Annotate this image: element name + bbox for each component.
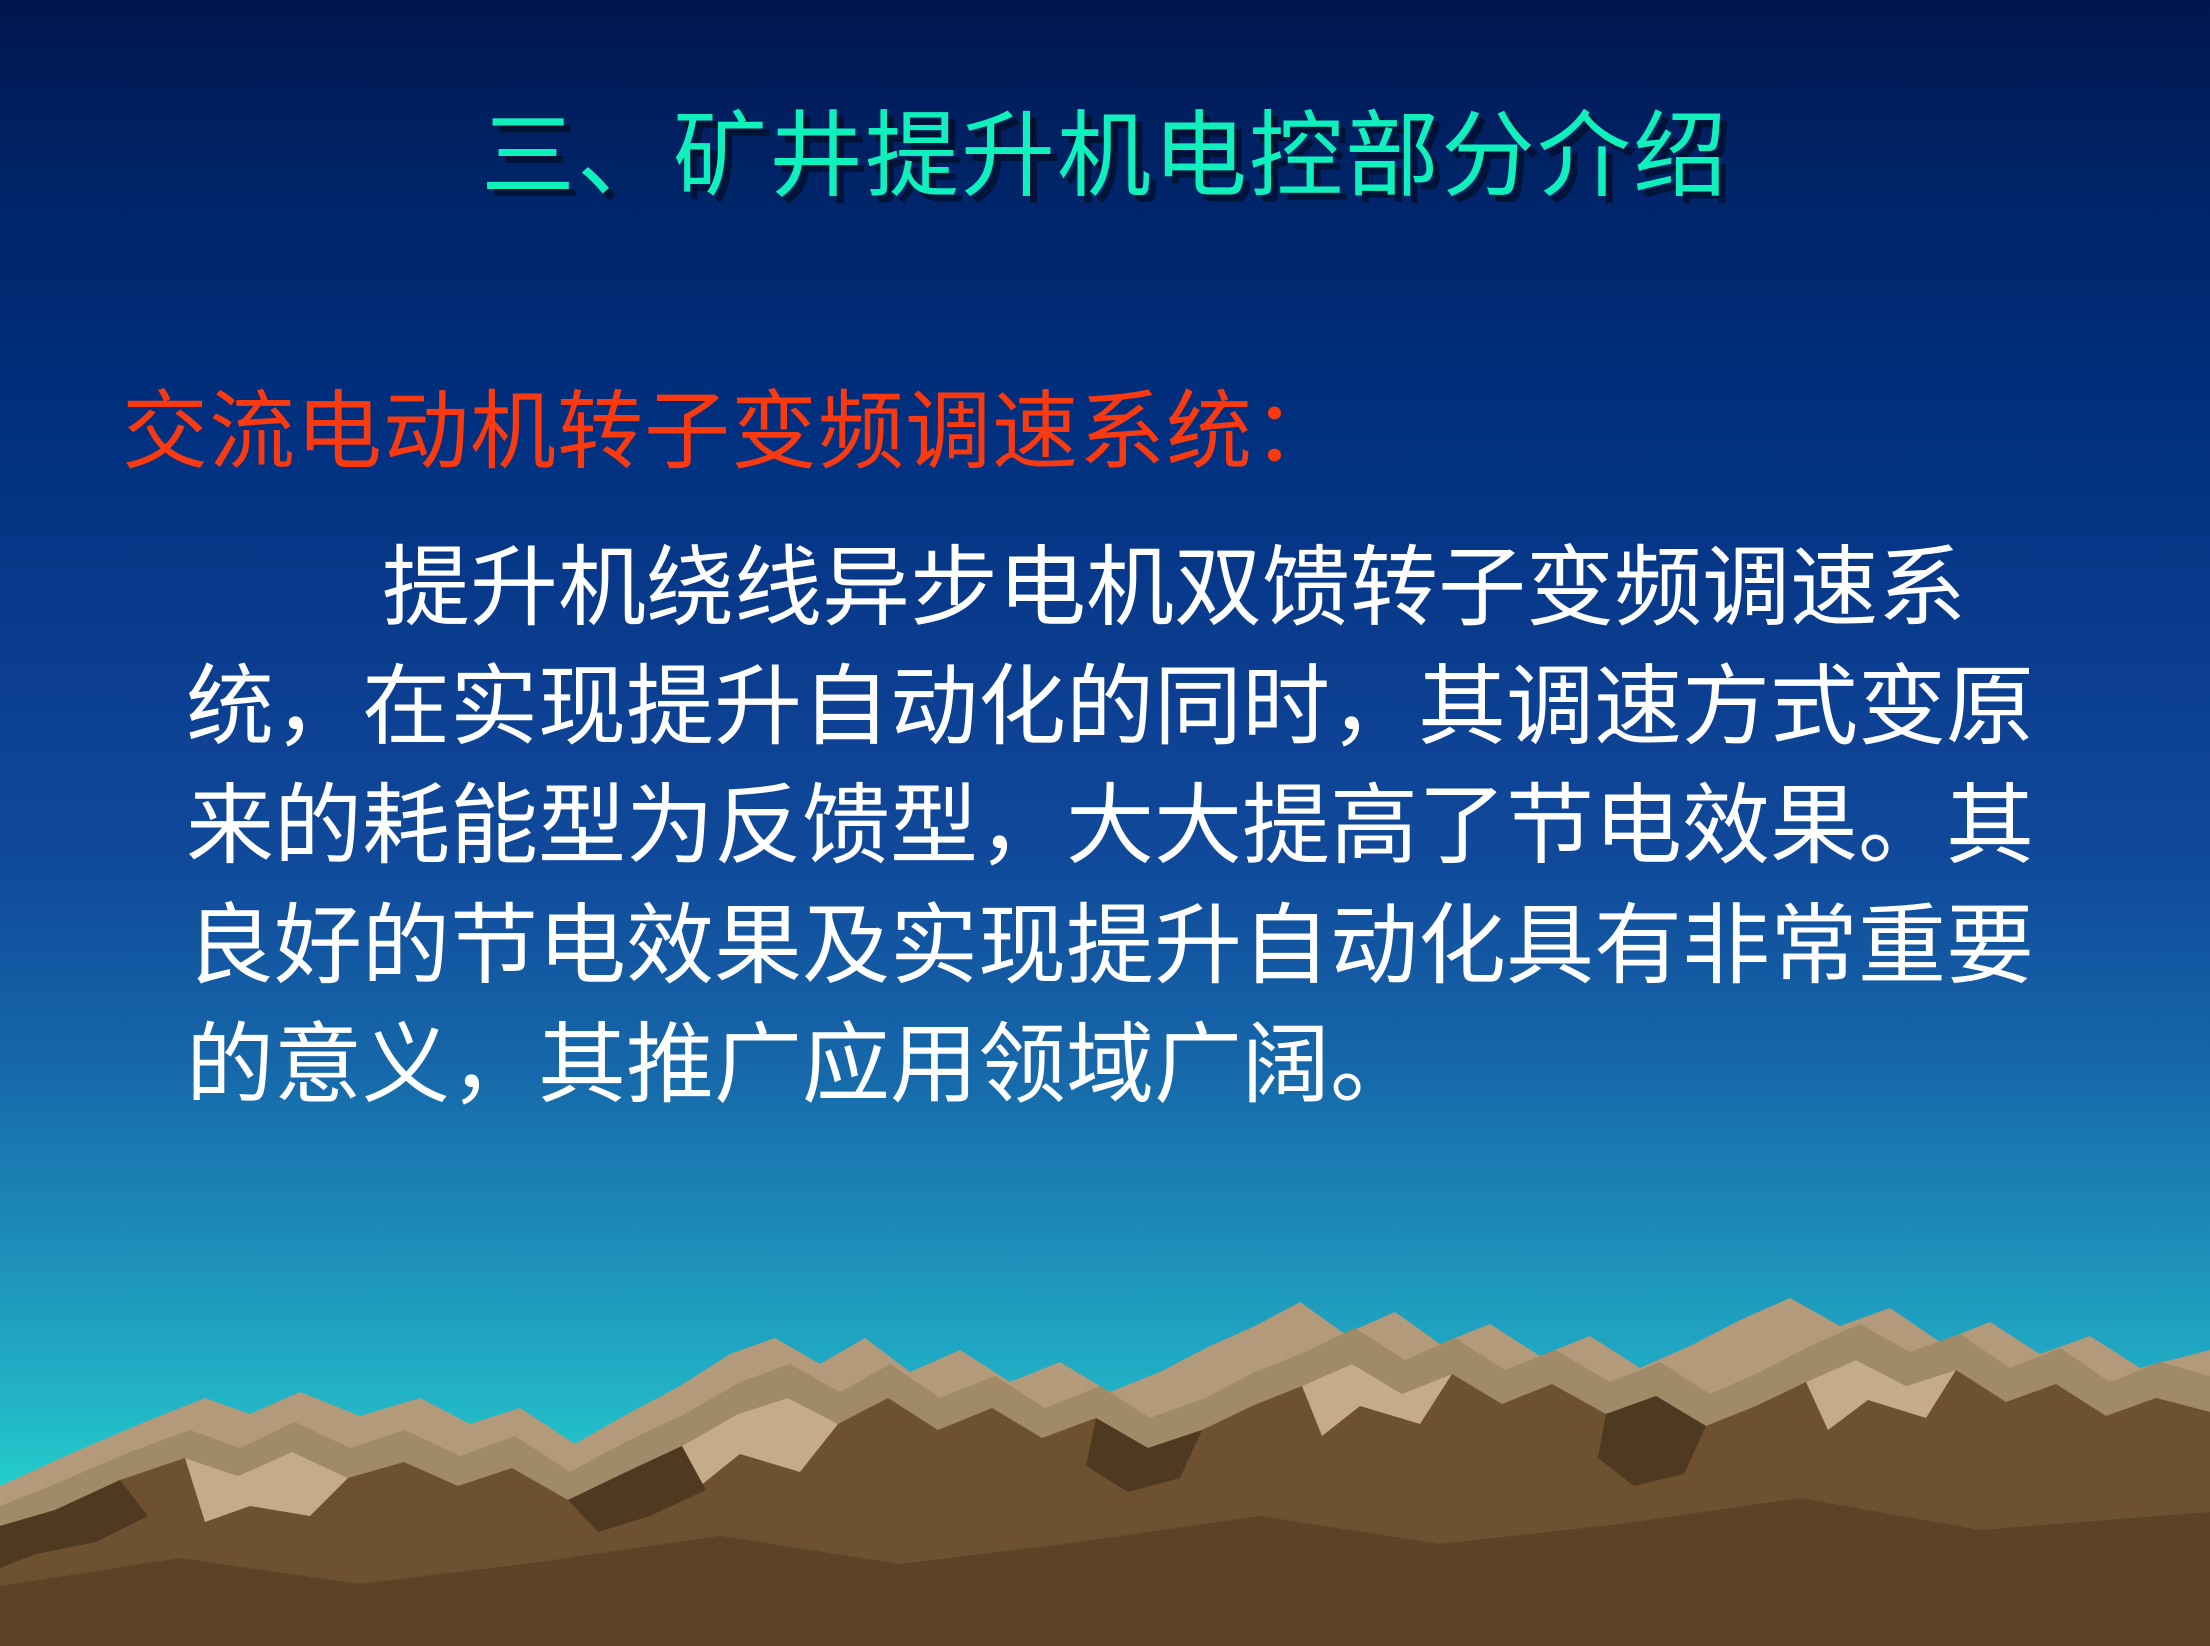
mountain-range-graphic (0, 1186, 2210, 1646)
slide-subtitle: 交流电动机转子变频调速系统： (122, 385, 1340, 480)
slide-title: 三、矿井提升机电控部分介绍 (0, 108, 2210, 207)
presentation-slide: 三、矿井提升机电控部分介绍 交流电动机转子变频调速系统： 提升机绕线异步电机双馈… (0, 0, 2210, 1646)
slide-body-paragraph: 提升机绕线异步电机双馈转子变频调速系统，在实现提升自动化的同时，其调速方式变原来… (186, 528, 2066, 1124)
